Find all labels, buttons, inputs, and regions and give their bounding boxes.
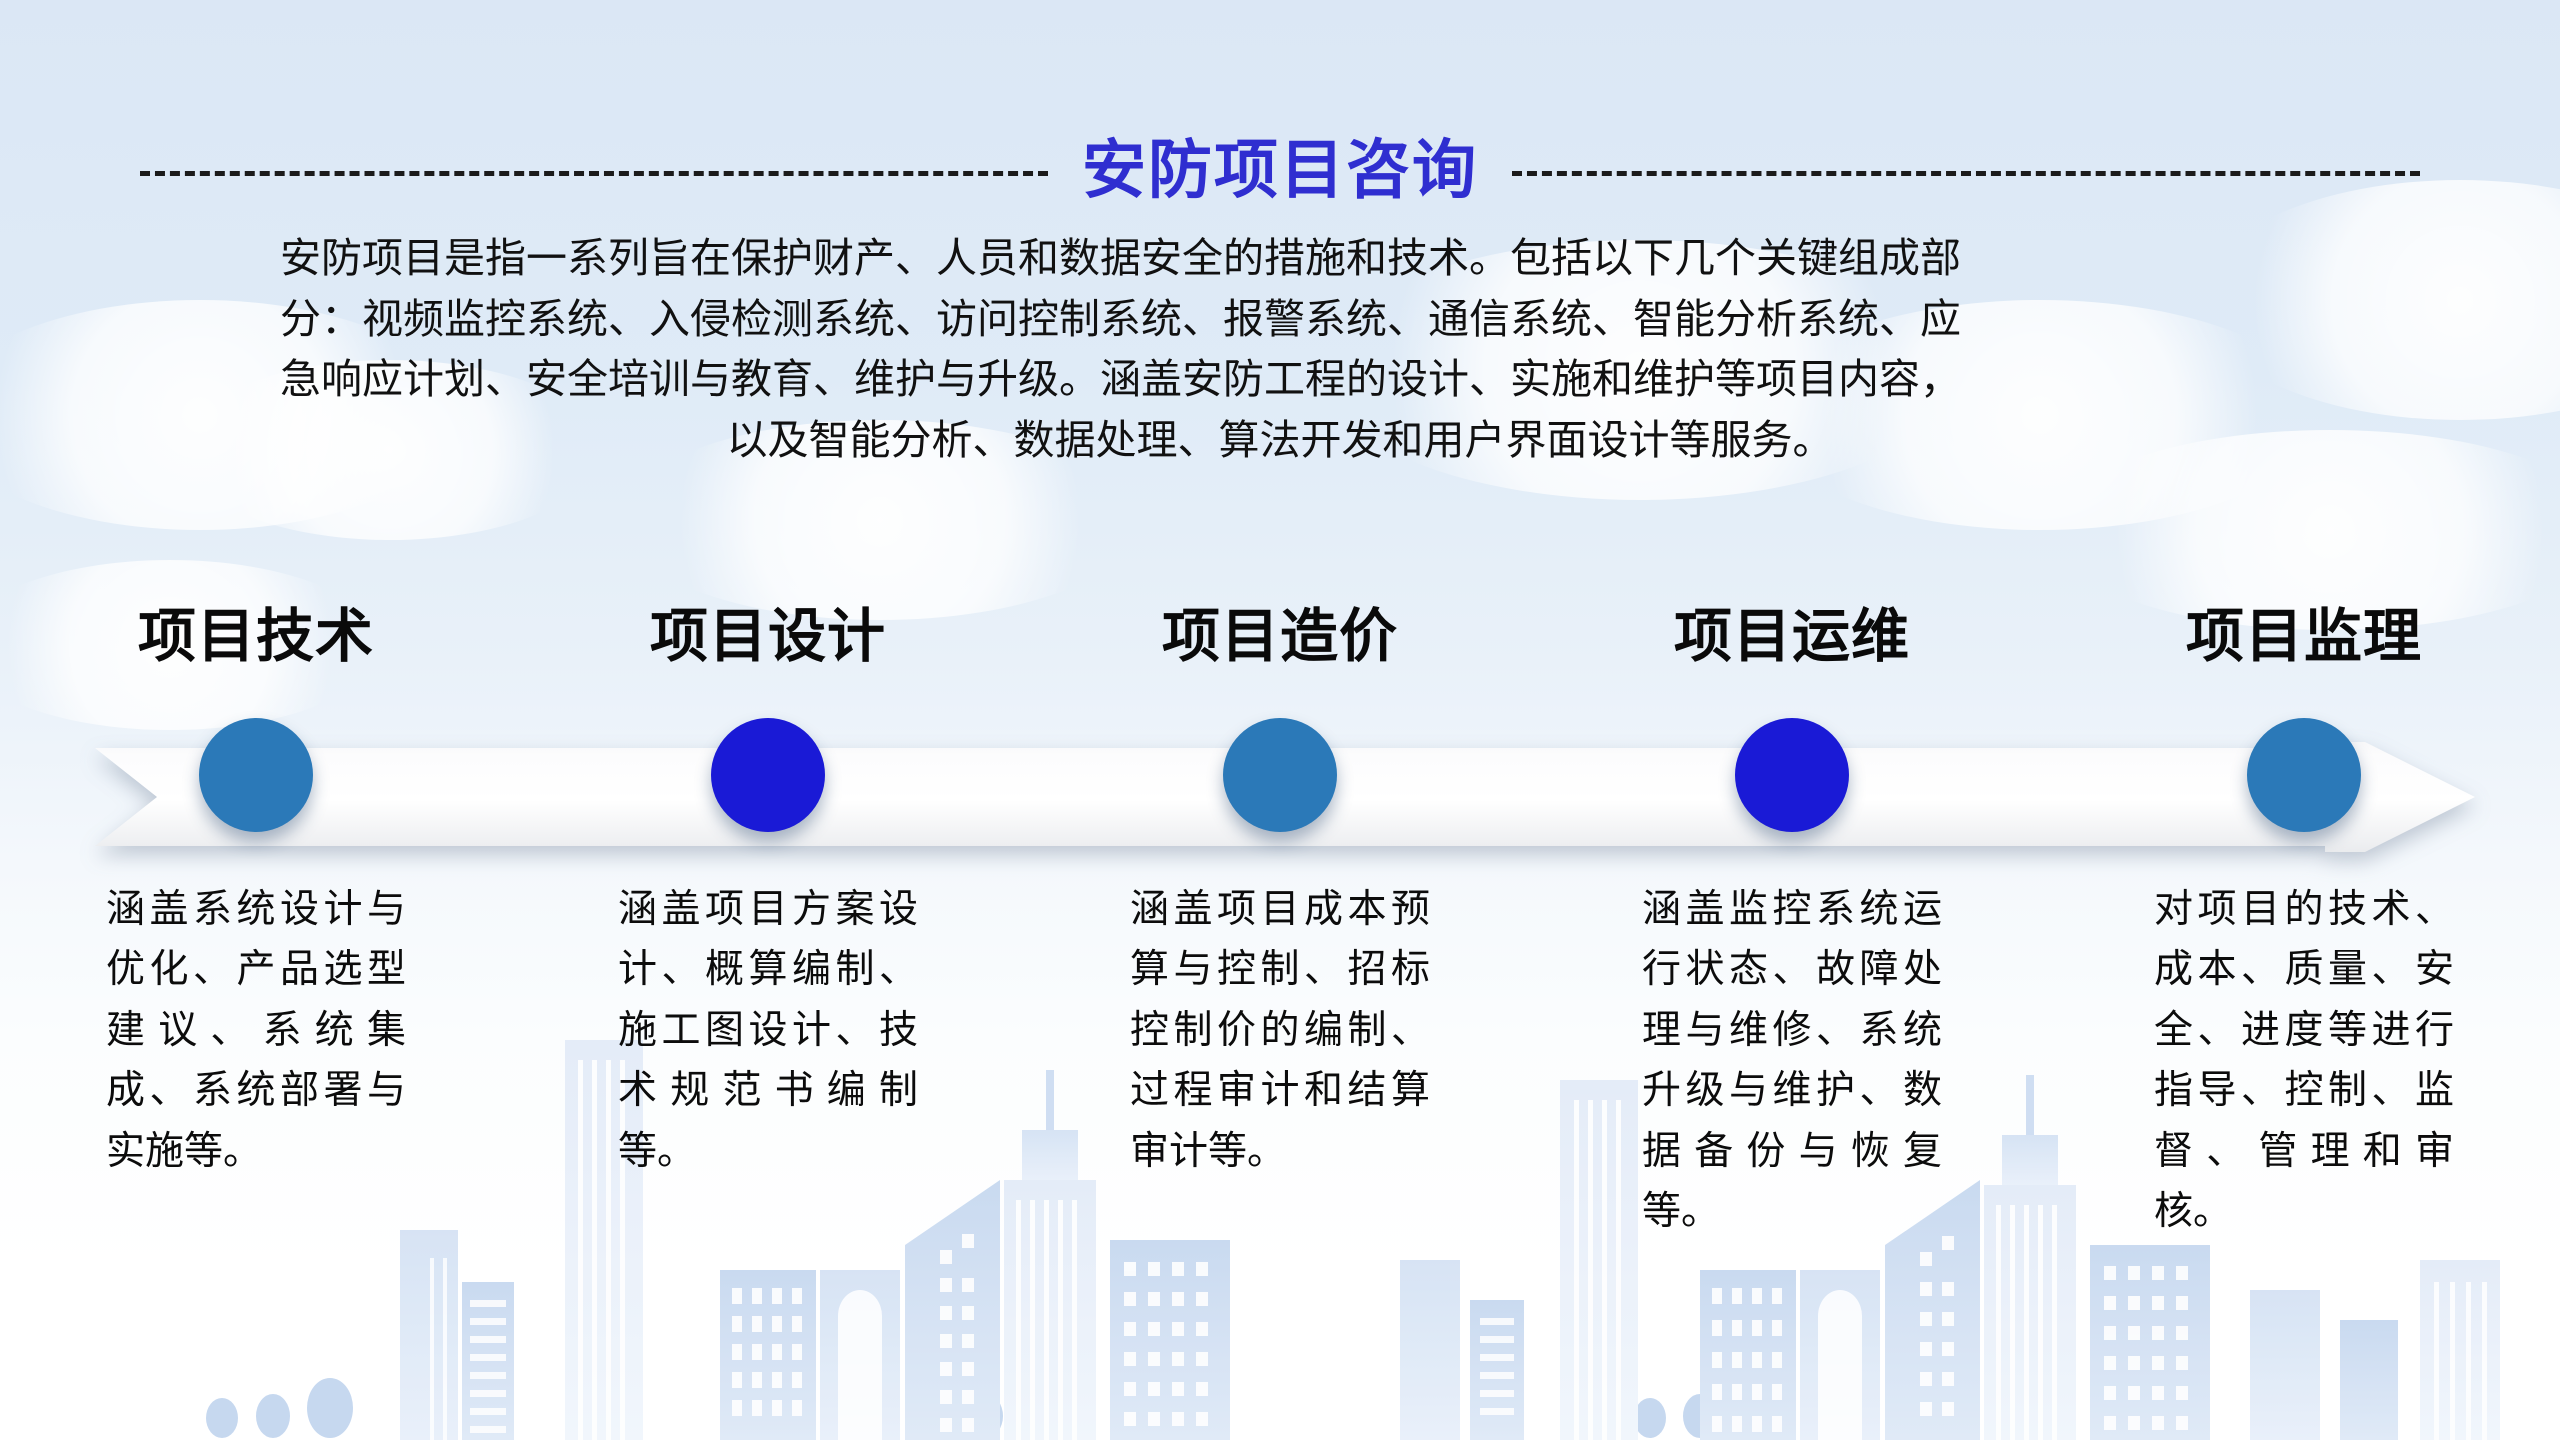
dashed-rule-left [140,171,1048,176]
step-description-text: 对项目的技术、成本、质量、安全、进度等进行指导、控制、监督、管理和审核。 [2154,880,2454,1300]
timeline-dot-1[interactable] [199,718,313,832]
step-heading-label: 项目运维 [1674,608,1910,666]
step-heading-label: 项目造价 [1162,608,1398,666]
step-description-text: 涵盖系统设计与优化、产品选型建议、系统集成、系统部署与实施等。 [106,880,406,1300]
step-headings-row: 项目技术 项目设计 项目造价 项目运维 项目监理 [0,608,2560,708]
intro-line-2: 分：视频监控系统、入侵检测系统、访问控制系统、报警系统、通信系统、智能分析系统、… [280,289,2280,350]
step-heading-5[interactable]: 项目监理 [2048,608,2560,708]
step-heading-label: 项目监理 [2186,608,2422,666]
step-description-text: 涵盖项目成本预算与控制、招标控制价的编制、过程审计和结算审计等。 [1130,880,1430,1300]
timeline-dots [0,718,2560,838]
intro-line-3: 急响应计划、安全培训与教育、维护与升级。涵盖安防工程的设计、实施和维护等项目内容… [280,349,2280,410]
step-heading-2[interactable]: 项目设计 [512,608,1024,708]
step-heading-label: 项目设计 [650,608,886,666]
step-description-2: 涵盖项目方案设计、概算编制、施工图设计、技术规范书编制等。 [512,880,1024,1300]
timeline-dot-4[interactable] [1735,718,1849,832]
timeline-dot-2[interactable] [711,718,825,832]
step-heading-3[interactable]: 项目造价 [1024,608,1536,708]
intro-line-1: 安防项目是指一系列旨在保护财产、人员和数据安全的措施和技术。包括以下几个关键组成… [280,228,2280,289]
step-heading-4[interactable]: 项目运维 [1536,608,2048,708]
step-description-3: 涵盖项目成本预算与控制、招标控制价的编制、过程审计和结算审计等。 [1024,880,1536,1300]
step-description-4: 涵盖监控系统运行状态、故障处理与维修、系统升级与维护、数据备份与恢复等。 [1536,880,2048,1300]
step-description-5: 对项目的技术、成本、质量、安全、进度等进行指导、控制、监督、管理和审核。 [2048,880,2560,1300]
step-description-1: 涵盖系统设计与优化、产品选型建议、系统集成、系统部署与实施等。 [0,880,512,1300]
page-title: 安防项目咨询 [1082,138,1478,202]
step-heading-1[interactable]: 项目技术 [0,608,512,708]
intro-paragraph: 安防项目是指一系列旨在保护财产、人员和数据安全的措施和技术。包括以下几个关键组成… [280,228,2280,471]
step-descriptions-row: 涵盖系统设计与优化、产品选型建议、系统集成、系统部署与实施等。 涵盖项目方案设计… [0,880,2560,1300]
dashed-rule-right [1512,171,2420,176]
step-description-text: 涵盖监控系统运行状态、故障处理与维修、系统升级与维护、数据备份与恢复等。 [1642,880,1942,1300]
step-heading-label: 项目技术 [138,608,374,666]
step-description-text: 涵盖项目方案设计、概算编制、施工图设计、技术规范书编制等。 [618,880,918,1300]
header-row: 安防项目咨询 [0,130,2560,210]
intro-line-4: 以及智能分析、数据处理、算法开发和用户界面设计等服务。 [280,410,2280,471]
timeline-dot-3[interactable] [1223,718,1337,832]
timeline-dot-5[interactable] [2247,718,2361,832]
